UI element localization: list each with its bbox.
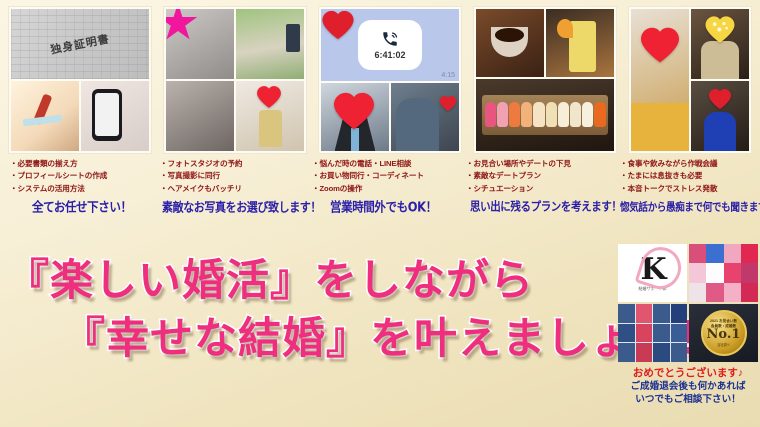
bullet-item: ・システムの活用方法 [10, 183, 160, 195]
bullet-item: ・写真撮影に同行 [160, 170, 310, 182]
headline-line-2: 『幸せな結婚』を叶えましょう！ [62, 310, 612, 368]
heart-sticker-icon [439, 95, 457, 112]
suit-portrait-photo [321, 83, 389, 151]
smartphone-photo [81, 81, 149, 151]
photo-panel-documents: 独身証明書 [8, 6, 152, 154]
cafe-photo [631, 9, 689, 151]
logo-sub-text: 結婚サポート和 [639, 286, 667, 292]
congrats-line-2: ご成婚退会後も何かあれば [618, 380, 758, 393]
bullet-item: ・ヘアメイクもバッチリ [160, 183, 310, 195]
photo-panel-talk [628, 6, 752, 154]
dress-portrait-photo [236, 81, 304, 151]
bullet-item: ・フォトスタジオの予約 [160, 158, 310, 170]
bullet-item: ・お見合い場所やデートの下見 [466, 158, 618, 170]
photo-panel-consultation: 6:41:02 4:15 [318, 6, 462, 154]
back-view-photo [391, 83, 459, 151]
certificate-caption: 独身証明書 [49, 30, 111, 57]
medal-bottom-text: 当社調べ [717, 342, 730, 347]
studio-shoot-photo [166, 9, 234, 79]
bullet-item: ・本音トークでストレス発散 [620, 183, 760, 195]
medal-rank-text: No.1 [707, 328, 741, 341]
bullet-item: ・悩んだ時の電話・LINE相談 [312, 158, 468, 170]
call-duration-text: 6:41:02 [374, 50, 405, 60]
column-tagline: 営業時間外でもOK！ [330, 198, 468, 216]
bullet-item: ・素敵なデートプラン [466, 170, 618, 182]
congratulations-block: K 結婚サポート和 2021 お見合い数 会員数・成婚数 No.1 当社調べ [618, 244, 758, 406]
service-column-date-plan: ・お見合い場所やデートの下見 ・素敵なデートプラン ・シチュエーション 思い出に… [466, 158, 618, 213]
heart-sticker-icon [708, 88, 732, 110]
call-duration-card: 6:41:02 [358, 20, 422, 70]
bullet-item: ・プロフィールシートの作成 [10, 170, 160, 182]
logo-mark-text: K [640, 255, 664, 285]
congratulations-text: おめでとうございます♪ ご成婚退会後も何かあれば いつでもご相談下さい！ [618, 365, 758, 406]
blue-dress-photo [691, 81, 749, 151]
phone-call-icon [380, 30, 400, 48]
outdoor-shoot-photo [236, 9, 304, 79]
service-column-documents: ・必要書類の揃え方 ・プロフィールシートの作成 ・システムの活用方法 全てお任せ… [10, 158, 160, 214]
photo-panel-date-plan [473, 6, 617, 154]
headline-block: 『楽しい婚活』をしながら 『幸せな結婚』を叶えましょう！ [0, 252, 612, 368]
lemonade-photo [546, 9, 614, 77]
member-photos-grid [618, 304, 687, 362]
column-tagline: 素敵なお写真をお選び致します！ [162, 198, 310, 216]
heart-sticker-icon [321, 9, 355, 41]
sushi-photo [476, 79, 614, 151]
medal-disc: 2021 お見合い数 会員数・成婚数 No.1 当社調べ [701, 310, 747, 356]
call-screen-photo: 6:41:02 4:15 [321, 9, 459, 81]
congrats-line-1: おめでとうございます♪ [618, 365, 758, 380]
handwriting-photo [11, 81, 79, 151]
bullet-list: ・お見合い場所やデートの下見 ・素敵なデートプラン ・シチュエーション [466, 158, 618, 195]
poster-canvas: 独身証明書 [0, 0, 760, 427]
service-column-talk: ・食事や飲みながら作戦会議 ・たまには息抜きも必要 ・本音トークでストレス発散 … [620, 158, 760, 212]
bullet-list: ・食事や飲みながら作戦会議 ・たまには息抜きも必要 ・本音トークでストレス発散 [620, 158, 760, 195]
hair-makeup-photo [166, 81, 234, 151]
bullet-item: ・お買い物同行・コーディネート [312, 170, 468, 182]
no1-medal-badge: 2021 お見合い数 会員数・成婚数 No.1 当社調べ [689, 304, 758, 362]
bullet-item: ・Zoomの操作 [312, 183, 468, 195]
bullet-item: ・シチュエーション [466, 183, 618, 195]
bullet-item: ・たまには息抜きも必要 [620, 170, 760, 182]
service-column-consultation: ・悩んだ時の電話・LINE相談 ・お買い物同行・コーディネート ・Zoomの操作… [312, 158, 468, 214]
company-logo: K 結婚サポート和 [618, 244, 687, 302]
service-column-photo-studio: ・フォトスタジオの予約 ・写真撮影に同行 ・ヘアメイクもバッチリ 素敵なお写真を… [160, 158, 310, 214]
wedding-collage [689, 244, 758, 302]
call-timestamp: 4:15 [441, 72, 455, 79]
izakaya-photo [691, 9, 749, 79]
congrats-line-3: いつでもご相談下さい！ [618, 393, 758, 406]
column-tagline: 思い出に残るプランを考えます！ [470, 198, 618, 215]
coffee-photo [476, 9, 544, 77]
bullet-item: ・食事や飲みながら作戦会議 [620, 158, 760, 170]
column-tagline: 惚気話から愚痴まで何でも聞きます！ [620, 198, 760, 214]
heart-sticker-icon [256, 85, 282, 109]
heart-sticker-icon [639, 26, 681, 64]
bullet-list: ・悩んだ時の電話・LINE相談 ・お買い物同行・コーディネート ・Zoomの操作 [312, 158, 468, 195]
bullet-list: ・必要書類の揃え方 ・プロフィールシートの作成 ・システムの活用方法 [10, 158, 160, 195]
sushi-plate [482, 95, 609, 135]
column-tagline: 全てお任せ下さい！ [32, 198, 160, 216]
star-sticker-icon [166, 9, 198, 43]
certificate-photo: 独身証明書 [11, 9, 149, 79]
bullet-item: ・必要書類の揃え方 [10, 158, 160, 170]
bullet-list: ・フォトスタジオの予約 ・写真撮影に同行 ・ヘアメイクもバッチリ [160, 158, 310, 195]
headline-line-1: 『楽しい婚活』をしながら [6, 252, 612, 310]
heart-sticker-icon [332, 91, 376, 131]
logo-grid: K 結婚サポート和 2021 お見合い数 会員数・成婚数 No.1 当社調べ [618, 244, 758, 362]
photo-panel-photo-studio [163, 6, 307, 154]
heart-sticker-yellow-icon [704, 15, 736, 44]
